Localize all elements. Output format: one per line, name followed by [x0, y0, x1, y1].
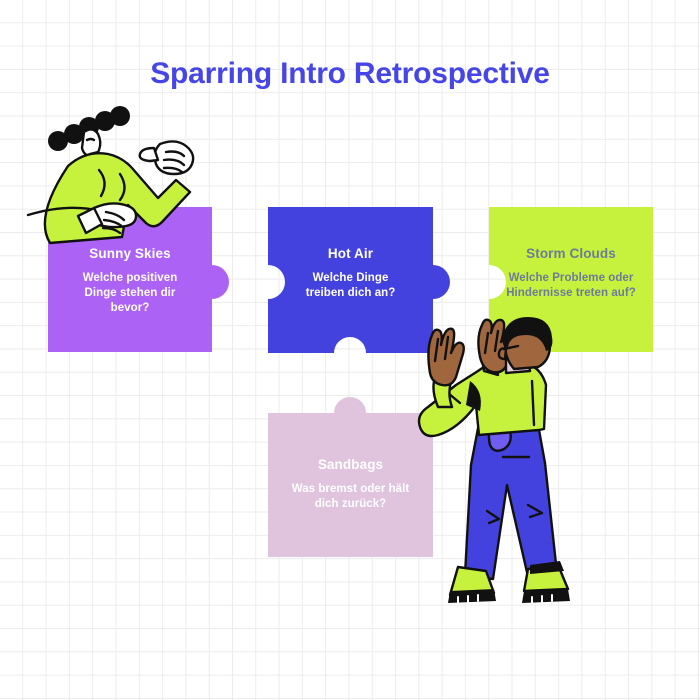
- puzzle-board: Sunny Skies Welche positiven Dinge stehe…: [0, 0, 700, 700]
- person-leaning-illustration: [14, 108, 214, 243]
- person-standing-illustration: [404, 315, 579, 607]
- retrospective-board-canvas: Sparring Intro Retrospective Sunny Skies…: [0, 0, 700, 700]
